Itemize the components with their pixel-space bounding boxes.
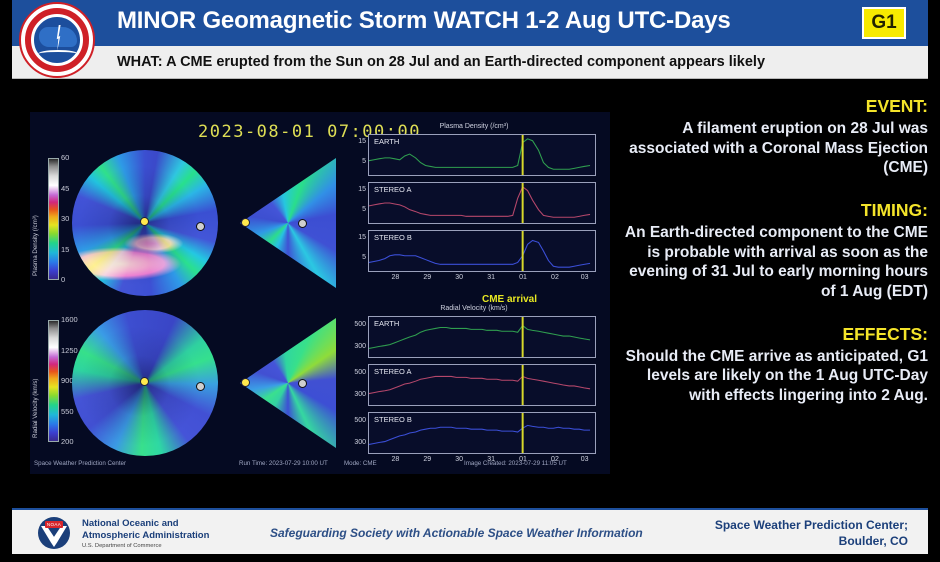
footer-band: NOAA National Oceanic and Atmospheric Ad… <box>12 508 928 554</box>
page-title: MINOR Geomagnetic Storm WATCH 1-2 Aug UT… <box>117 7 731 35</box>
radial-velocity-stereo-a-plot <box>369 365 595 405</box>
footer-tagline: Safeguarding Society with Actionable Spa… <box>270 526 643 540</box>
radial-velocity-chart-title: Radial Velocity (km/s) <box>348 305 600 312</box>
earth-marker-density-ecliptic <box>196 222 205 231</box>
velocity-meridional-view <box>240 318 336 448</box>
plasma-density-panel-stereo-a: STEREO A 15 5 <box>368 182 596 224</box>
ytick-500-stereo-b-velocity: 500 <box>354 417 366 424</box>
timing-heading: TIMING: <box>612 200 928 221</box>
effects-section: EFFECTS: Should the CME arrive as antici… <box>612 324 928 406</box>
radial-velocity-earth-plot <box>369 317 595 357</box>
storm-level-badge: G1 <box>862 7 906 39</box>
sun-marker-velocity-ecliptic <box>140 377 149 386</box>
noaa-agency-name: National Oceanic and Atmospheric Adminis… <box>82 518 209 550</box>
event-section: EVENT: A filament eruption on 28 Jul was… <box>612 96 928 178</box>
timing-body: An Earth-directed component to the CME i… <box>612 223 928 302</box>
ytick-15-stereo-b-density: 15 <box>358 234 366 241</box>
plasma-density-stereo-b-plot <box>369 231 595 271</box>
subheader-band: WHAT: A CME erupted from the Sun on 28 J… <box>12 46 928 79</box>
plasma-density-colorbar-label: Plasma Density (/cm³) <box>32 215 39 276</box>
section-spacer-1 <box>612 178 928 200</box>
noaa-wordmark: NOAA <box>45 521 63 528</box>
stereo-b-density-line <box>369 241 590 268</box>
stereo-a-density-line <box>369 187 590 217</box>
what-statement: WHAT: A CME erupted from the Sun on 28 J… <box>117 54 765 70</box>
plasma-density-stereo-a-plot <box>369 183 595 223</box>
event-heading: EVENT: <box>612 96 928 117</box>
status-mode: Mode: CME <box>344 460 377 467</box>
earth-marker-velocity-meridional <box>298 379 307 388</box>
ytick-300-stereo-b-velocity: 300 <box>354 439 366 446</box>
radial-velocity-stereo-b-plot <box>369 413 595 453</box>
stereo-a-velocity-line <box>369 376 590 393</box>
ytick-15-stereo-a-density: 15 <box>358 186 366 193</box>
plasma-density-panel-earth: EARTH 15 5 <box>368 134 596 176</box>
radial-velocity-panel-stereo-b: STEREO B 500 300 <box>368 412 596 454</box>
sun-marker-velocity-meridional <box>241 378 250 387</box>
radial-velocity-timeseries: Radial Velocity (km/s) EARTH 500 300 STE… <box>348 316 600 464</box>
header-band: MINOR Geomagnetic Storm WATCH 1-2 Aug UT… <box>12 0 928 46</box>
ytick-15-earth-density: 15 <box>358 138 366 145</box>
plasma-density-color-ramp <box>48 158 59 280</box>
sun-marker-density-meridional <box>241 218 250 227</box>
density-meridional-view <box>240 158 336 288</box>
ytick-300-stereo-a-velocity: 300 <box>354 391 366 398</box>
plasma-density-timeseries: Plasma Density (/cm³) EARTH 15 5 STEREO … <box>348 134 600 282</box>
sun-marker-density-ecliptic <box>140 217 149 226</box>
noaa-agency-line1: National Oceanic and <box>82 518 209 530</box>
event-body: A filament eruption on 28 Jul was associ… <box>612 119 928 178</box>
ytick-500-earth-velocity: 500 <box>354 321 366 328</box>
ytick-5-earth-density: 5 <box>362 158 366 165</box>
ytick-5-stereo-a-density: 5 <box>362 206 366 213</box>
radial-velocity-color-ramp <box>48 320 59 442</box>
ytick-5-stereo-b-density: 5 <box>362 254 366 261</box>
ytick-300-earth-velocity: 300 <box>354 343 366 350</box>
summary-text-column: EVENT: A filament eruption on 28 Jul was… <box>612 96 928 506</box>
enlil-model-visualization: 2023-08-01 07:00:00 Plasma Density (/cm³… <box>30 112 610 474</box>
status-center: Space Weather Prediction Center <box>34 460 126 467</box>
footer-office-line1: Space Weather Prediction Center; <box>715 518 908 534</box>
status-run-time: Run Time: 2023-07-29 10:00 UT <box>239 460 328 467</box>
noaa-agency-sub: U.S. Department of Commerce <box>82 543 209 550</box>
earth-marker-velocity-ecliptic <box>196 382 205 391</box>
radial-velocity-panel-stereo-a: STEREO A 500 300 <box>368 364 596 406</box>
visualization-status-bar: Space Weather Prediction Center Run Time… <box>34 460 606 470</box>
noaa-logo-icon: NOAA <box>38 517 70 549</box>
effects-body: Should the CME arrive as anticipated, G1… <box>612 347 928 406</box>
plasma-density-panel-stereo-b: STEREO B 15 5 <box>368 230 596 272</box>
plasma-density-chart-title: Plasma Density (/cm³) <box>348 123 600 130</box>
section-spacer-2 <box>612 302 928 324</box>
earth-density-line <box>369 139 590 169</box>
status-image-created: Image Created: 2023-07-29 11:05 UT <box>464 460 567 467</box>
footer-office: Space Weather Prediction Center; Boulder… <box>715 518 908 549</box>
earth-marker-density-meridional <box>298 219 307 228</box>
ytick-500-stereo-a-velocity: 500 <box>354 369 366 376</box>
effects-heading: EFFECTS: <box>612 324 928 345</box>
earth-velocity-line <box>369 326 590 349</box>
national-weather-service-logo-icon <box>19 2 95 78</box>
stereo-b-velocity-line <box>369 425 590 444</box>
plasma-density-earth-plot <box>369 135 595 175</box>
footer-office-line2: Boulder, CO <box>715 534 908 550</box>
radial-velocity-panel-earth: EARTH 500 300 <box>368 316 596 358</box>
timing-section: TIMING: An Earth-directed component to t… <box>612 200 928 302</box>
enlil-space-weather-watch-graphic: MINOR Geomagnetic Storm WATCH 1-2 Aug UT… <box>0 0 940 562</box>
cme-arrival-annotation: CME arrival <box>482 294 537 305</box>
radial-velocity-colorbar-label: Radial Velocity (km/s) <box>32 379 39 439</box>
noaa-agency-line2: Atmospheric Administration <box>82 530 209 542</box>
